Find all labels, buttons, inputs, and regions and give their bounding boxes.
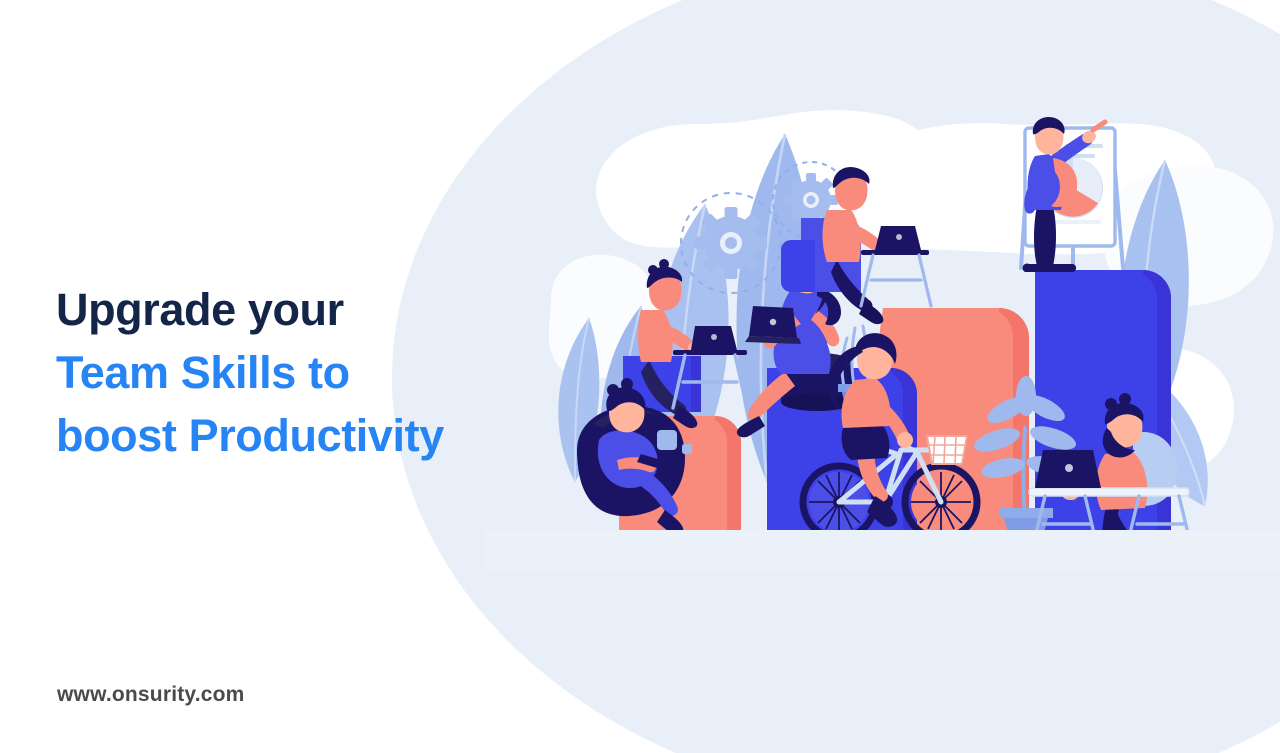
page-title: Upgrade your Team Skills to boost Produc… (56, 278, 576, 467)
website-url[interactable]: www.onsurity.com (57, 683, 245, 707)
headline-line-2: Team Skills to (56, 341, 576, 404)
headline-line-3: boost Productivity (56, 404, 576, 467)
headline-line-1: Upgrade your (56, 278, 576, 341)
team-productivity-illustration (545, 110, 1245, 570)
poster-canvas: Upgrade your Team Skills to boost Produc… (0, 0, 1280, 753)
